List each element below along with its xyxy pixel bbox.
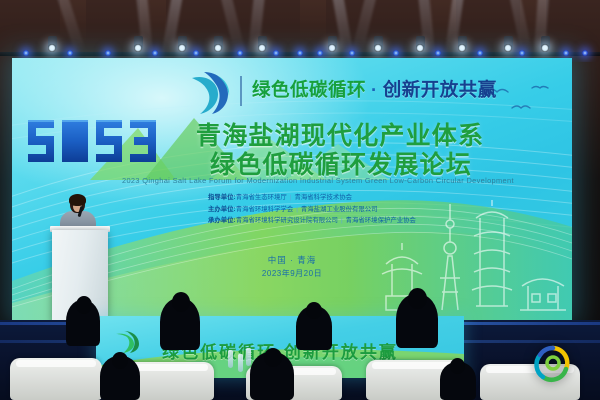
organizer-name: 青海省生态环境厅 [236, 194, 287, 201]
stage-spotlight-icon [416, 44, 424, 52]
stage-spotlight-icon [214, 44, 222, 52]
leaf-swoosh-logo-icon [188, 70, 232, 116]
stage-spotlight-icon [374, 44, 382, 52]
audience-head [450, 358, 465, 374]
organizer-name: 青海省环境保护产业协会 [346, 217, 416, 224]
organizer-name: 青海盐湖工业股份有限公司 [301, 206, 378, 213]
stage-spotlight-icon [541, 44, 549, 52]
audience-head [172, 292, 190, 312]
blue-led-par-icon [582, 50, 588, 56]
stage-spotlight-icon [328, 44, 336, 52]
organizer-row: 承办单位:青海省环境科学研究设计院有限公司|青海省环境保护产业协会 [208, 215, 416, 227]
stage-spotlight-icon [48, 44, 56, 52]
blue-led-par-icon [105, 50, 111, 56]
audience-head [76, 296, 92, 314]
blue-led-par-icon [435, 50, 441, 56]
tagline-green-text: 绿色低碳循环 [252, 79, 366, 100]
blue-led-par-icon [393, 50, 399, 56]
tagline-blue-text: 创新开放共赢 [383, 79, 497, 100]
blue-led-par-icon [519, 50, 525, 56]
stage-spotlight-icon [134, 44, 142, 52]
speaker-hair [69, 194, 86, 206]
banner-tagline: 绿色低碳循环·创新开放共赢 [252, 76, 497, 102]
blue-led-par-icon [297, 50, 303, 56]
stage-photo: 绿色低碳循环·创新开放共赢 [0, 0, 600, 400]
water-bottle [246, 348, 251, 366]
blue-led-par-icon [477, 50, 483, 56]
blue-led-par-icon [237, 50, 243, 56]
organizer-label: 承办单位: [208, 217, 236, 224]
audience-head [264, 348, 282, 367]
organizer-row: 主办单位:青海省环境科学学会|青海盐湖工业股份有限公司 [208, 204, 416, 216]
lighting-rig [0, 0, 600, 62]
audience-head [408, 288, 427, 309]
organizer-list: 指导单位:青海省生态环境厅|青海省科学技术协会主办单位:青海省环境科学学会|青海… [208, 192, 416, 227]
organizer-name: 青海省科学技术协会 [295, 194, 353, 201]
organizer-row: 指导单位:青海省生态环境厅|青海省科学技术协会 [208, 192, 416, 204]
year-2023-graphic [24, 110, 184, 172]
stage-spotlight-icon [504, 44, 512, 52]
audience-head [112, 352, 128, 369]
blue-led-par-icon [152, 50, 158, 56]
stage-spotlight-icon [258, 44, 266, 52]
blue-led-par-icon [273, 50, 279, 56]
blue-led-par-icon [23, 50, 29, 56]
blue-led-par-icon [67, 50, 73, 56]
banner-english-subtitle: 2023 Qinghai Salt Lake Forum for Moderni… [122, 176, 514, 185]
organizer-name: 青海省环境科学研究设计院有限公司 [236, 217, 338, 224]
audience-head [306, 302, 322, 319]
stage-spotlight-icon [458, 44, 466, 52]
organizer-label: 主办单位: [208, 206, 236, 213]
organizer-separator: | [293, 206, 301, 213]
blue-led-par-icon [193, 50, 199, 56]
logo-divider [240, 76, 242, 106]
blue-led-par-icon [317, 50, 323, 56]
water-bottle [228, 350, 233, 368]
stage-spotlight-icon [178, 44, 186, 52]
circular-ribbon-logo-icon [530, 340, 576, 386]
organizer-separator: | [338, 217, 346, 224]
chair-cover-lace [16, 360, 96, 367]
water-bottle [238, 354, 243, 372]
organizer-label: 指导单位: [208, 194, 236, 201]
tagline-dot: · [366, 79, 383, 100]
blue-led-par-icon [563, 50, 569, 56]
blue-led-par-icon [349, 50, 355, 56]
organizer-name: 青海省环境科学学会 [236, 206, 294, 213]
organizer-separator: | [287, 194, 295, 201]
